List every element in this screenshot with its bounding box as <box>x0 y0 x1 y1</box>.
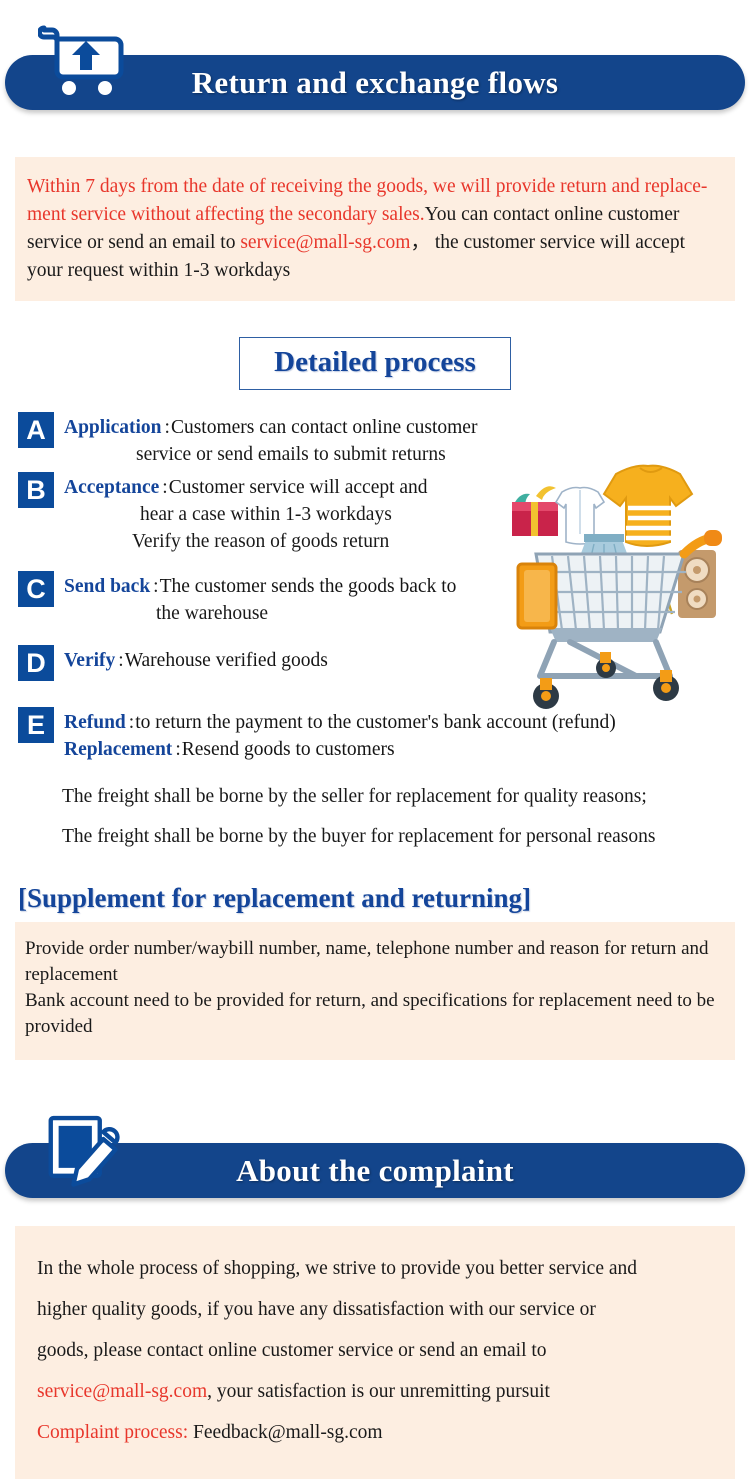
step-colon-e-2: : <box>172 739 181 760</box>
supplement-box: Provide order number/waybill number, nam… <box>15 922 735 1060</box>
step-label-b: Acceptance <box>64 477 159 498</box>
step-badge-b: B <box>18 472 54 508</box>
step-row-e: E Refund:to return the payment to the cu… <box>0 707 750 763</box>
step-badge-d: D <box>18 645 54 681</box>
detailed-process-title-row: Detailed process <box>0 337 750 390</box>
freight-note-2: The freight shall be borne by the buyer … <box>62 817 750 857</box>
policy-email[interactable]: service@mall-sg.com <box>240 232 410 253</box>
step-colon-b: : <box>159 477 168 498</box>
step-body-d: Verify:Warehouse verified goods <box>64 645 750 674</box>
complaint-process-email[interactable]: Feedback@mall-sg.com <box>193 1422 383 1443</box>
step-line-d: Verify:Warehouse verified goods <box>64 647 750 674</box>
step-body-b: Acceptance:Customer service will accept … <box>64 472 750 555</box>
step-line-c: Send back:The customer sends the goods b… <box>64 573 750 600</box>
step-body-c: Send back:The customer sends the goods b… <box>64 571 750 627</box>
process-steps-list: A Application:Customers can contact onli… <box>0 412 750 857</box>
step-row-c: C Send back:The customer sends the goods… <box>0 571 750 627</box>
supplement-line-1: Provide order number/waybill number, nam… <box>25 936 725 988</box>
step-line-e-replacement: Replacement:Resend goods to customers <box>64 736 750 763</box>
complaint-line-3: goods, please contact online customer se… <box>37 1330 713 1371</box>
step-label-c: Send back <box>64 576 150 597</box>
complaint-line-1: In the whole process of shopping, we str… <box>37 1248 713 1289</box>
step-text-e-replacement: Resend goods to customers <box>182 739 395 760</box>
step-line-a: Application:Customers can contact online… <box>64 414 750 441</box>
step-cont-a-1: service or send emails to submit returns <box>136 441 750 468</box>
complaint-process-line: Complaint process: Feedback@mall-sg.com <box>37 1412 713 1453</box>
step-text-c: The customer sends the goods back to <box>160 576 457 597</box>
step-body-a: Application:Customers can contact online… <box>64 412 750 468</box>
step-text-e-refund: to return the payment to the customer's … <box>135 712 616 733</box>
step-colon-e-1: : <box>126 712 135 733</box>
notepad-pencil-icon <box>42 1102 126 1190</box>
complaint-email[interactable]: service@mall-sg.com <box>37 1381 207 1402</box>
step-row-d: D Verify:Warehouse verified goods <box>0 645 750 681</box>
step-text-b: Customer service will accept and <box>169 477 428 498</box>
policy-paragraph: Within 7 days from the date of receiving… <box>27 173 723 285</box>
step-line-b: Acceptance:Customer service will accept … <box>64 474 750 501</box>
step-label-a: Application <box>64 417 162 438</box>
supplement-title: [Supplement for replacement and returnin… <box>18 883 750 914</box>
step-row-a: A Application:Customers can contact onli… <box>0 412 750 468</box>
complaint-process-label: Complaint process: <box>37 1422 188 1443</box>
step-row-b: B Acceptance:Customer service will accep… <box>0 472 750 555</box>
step-text-d: Warehouse verified goods <box>125 650 328 671</box>
step-label-e-refund: Refund <box>64 712 126 733</box>
shopping-cart-up-arrow-icon <box>38 22 134 102</box>
complaint-line-4: service@mall-sg.com, your satisfaction i… <box>37 1371 713 1412</box>
complaint-line-4-text: , your satisfaction is our unremitting p… <box>207 1381 550 1402</box>
freight-note-1: The freight shall be borne by the seller… <box>62 777 750 817</box>
step-badge-a: A <box>18 412 54 448</box>
step-body-e: Refund:to return the payment to the cust… <box>64 707 750 763</box>
return-exchange-banner: Return and exchange flows <box>0 0 750 92</box>
step-line-e-refund: Refund:to return the payment to the cust… <box>64 709 750 736</box>
step-cont-b-2: Verify the reason of goods return <box>132 528 750 555</box>
step-colon-c: : <box>150 576 159 597</box>
step-label-e-replacement: Replacement <box>64 739 172 760</box>
step-badge-c: C <box>18 571 54 607</box>
step-cont-b-1: hear a case within 1-3 workdays <box>140 501 750 528</box>
step-cont-c-1: the warehouse <box>156 600 750 627</box>
step-colon-a: : <box>162 417 171 438</box>
step-text-a: Customers can contact online customer <box>171 417 478 438</box>
complaint-banner: About the complaint <box>0 1088 750 1180</box>
step-badge-e: E <box>18 707 54 743</box>
policy-box: Within 7 days from the date of receiving… <box>15 157 735 301</box>
step-colon-d: : <box>115 650 124 671</box>
complaint-text-box: In the whole process of shopping, we str… <box>15 1226 735 1479</box>
supplement-line-2: Bank account need to be provided for ret… <box>25 988 725 1040</box>
detailed-process-title: Detailed process <box>239 337 511 390</box>
step-label-d: Verify <box>64 650 115 671</box>
complaint-line-2: higher quality goods, if you have any di… <box>37 1289 713 1330</box>
